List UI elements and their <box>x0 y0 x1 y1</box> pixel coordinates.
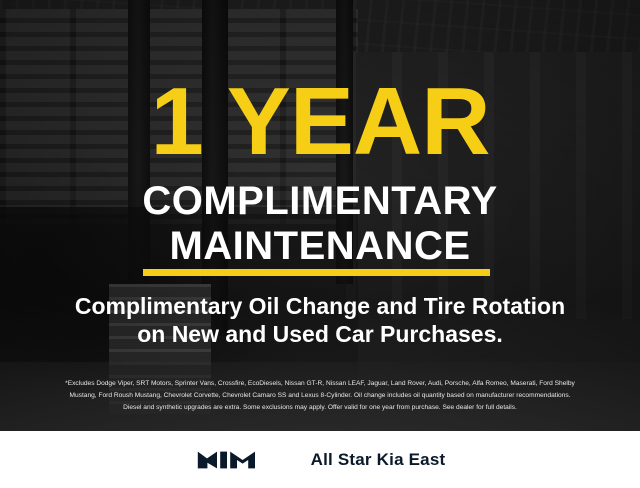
promotional-ad: 1 YEAR COMPLIMENTARY MAINTENANCE Complim… <box>0 0 640 488</box>
hero-content: 1 YEAR COMPLIMENTARY MAINTENANCE Complim… <box>0 0 640 431</box>
hero-banner: 1 YEAR COMPLIMENTARY MAINTENANCE Complim… <box>0 0 640 431</box>
dealer-name: All Star Kia East <box>311 450 446 470</box>
offer-description-line-1: Complimentary Oil Change and Tire Rotati… <box>0 292 640 320</box>
headline-secondary-line-1: COMPLIMENTARY <box>0 181 640 221</box>
yellow-divider-rule <box>143 269 490 276</box>
disclaimer-line-2: Mustang, Ford Roush Mustang, Chevrolet C… <box>14 390 626 402</box>
disclaimer-text: *Excludes Dodge Viper, SRT Motors, Sprin… <box>14 378 626 414</box>
footer-bar: All Star Kia East <box>0 431 640 488</box>
disclaimer-line-3: Diesel and synthetic upgrades are extra.… <box>14 402 626 414</box>
headline-primary: 1 YEAR <box>0 74 640 170</box>
disclaimer-line-1: *Excludes Dodge Viper, SRT Motors, Sprin… <box>14 378 626 390</box>
offer-description-line-2: on New and Used Car Purchases. <box>0 320 640 348</box>
headline-secondary-line-2: MAINTENANCE <box>0 226 640 266</box>
offer-description: Complimentary Oil Change and Tire Rotati… <box>0 292 640 348</box>
kia-logo <box>195 448 287 472</box>
